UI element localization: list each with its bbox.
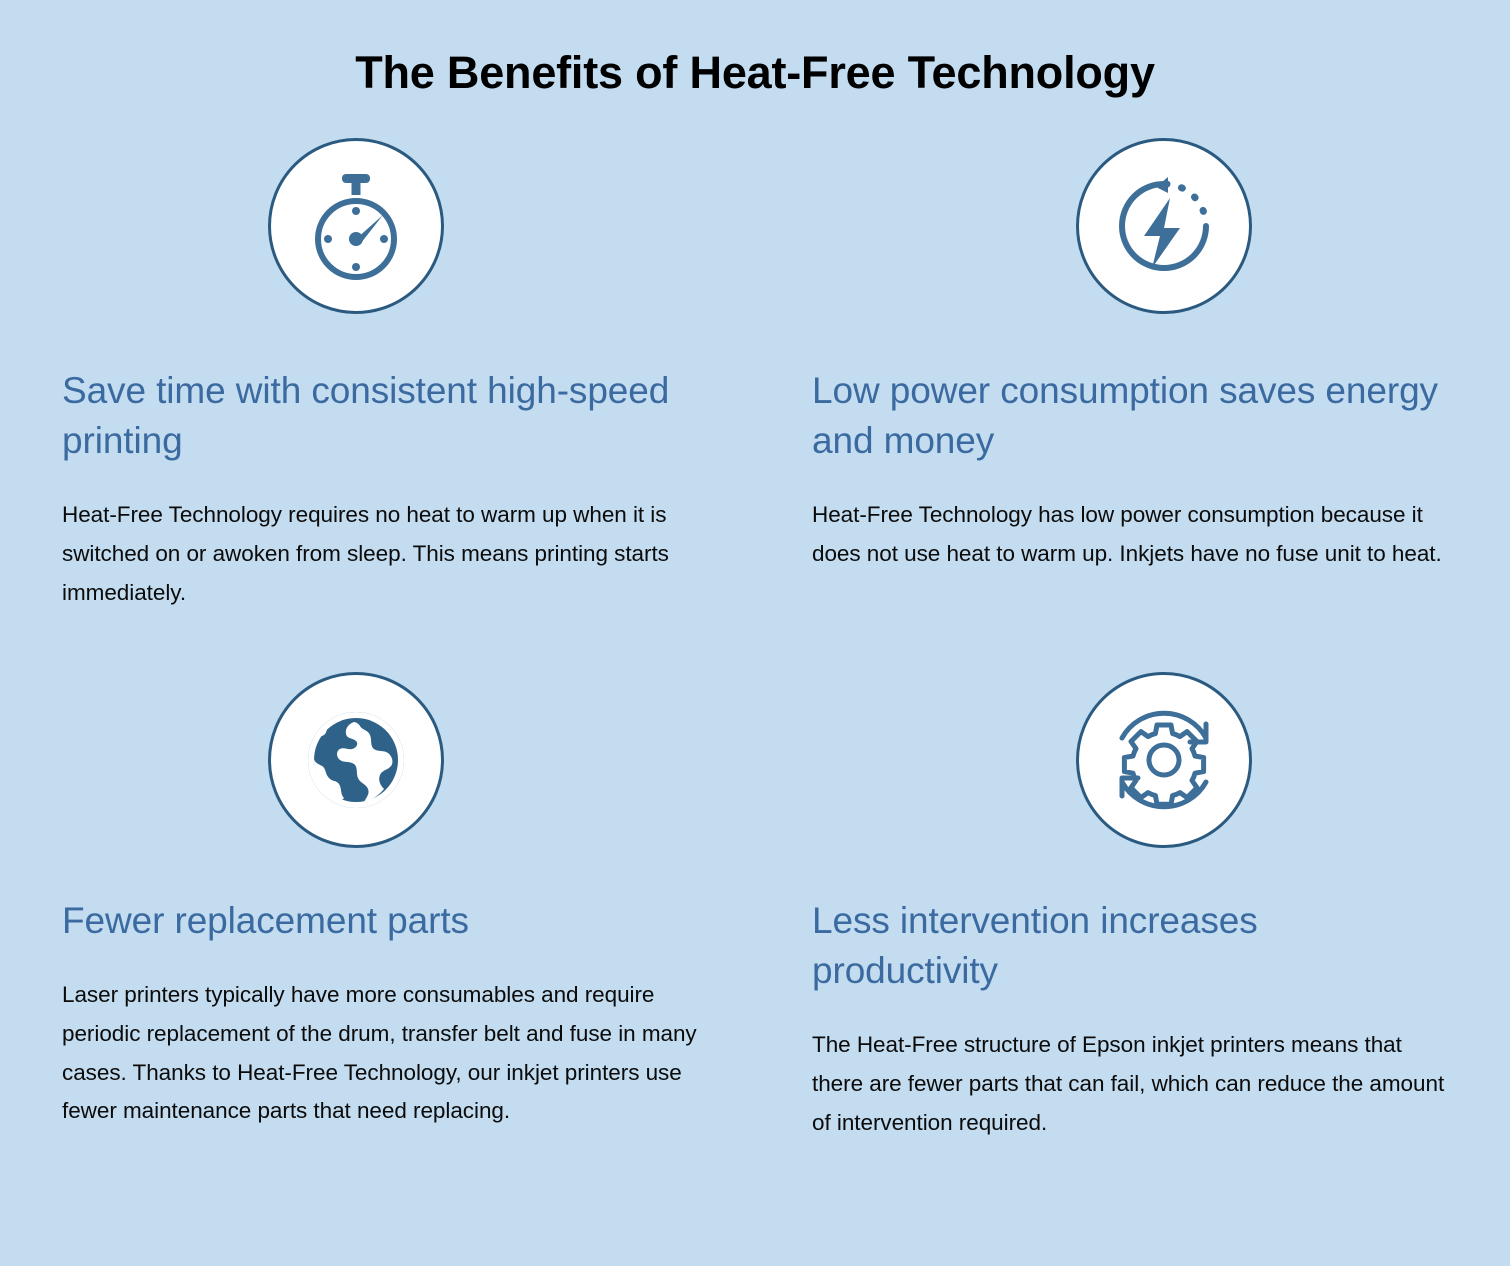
stopwatch-icon-badge (268, 138, 444, 314)
energy-bolt-cycle-icon (1108, 170, 1220, 282)
page-title: The Benefits of Heat-Free Technology (0, 0, 1510, 98)
benefit-heading: Fewer replacement parts (62, 896, 702, 946)
benefit-body: Heat-Free Technology has low power consu… (812, 496, 1452, 573)
gear-refresh-icon-badge (1076, 672, 1252, 848)
benefit-card-less-intervention: Less intervention increases productivity… (812, 672, 1510, 1142)
benefit-card-fewer-parts: Fewer replacement parts Laser printers t… (62, 672, 812, 1142)
benefit-heading: Less intervention increases productivity (812, 896, 1452, 996)
grid-row-spacer (62, 612, 812, 672)
benefit-body: The Heat-Free structure of Epson inkjet … (812, 1026, 1452, 1142)
gear-refresh-icon (1106, 702, 1222, 818)
benefit-body: Laser printers typically have more consu… (62, 976, 702, 1131)
benefit-card-low-power: Low power consumption saves energy and m… (812, 138, 1510, 612)
benefits-grid: Save time with consistent high-speed pri… (0, 138, 1510, 1142)
benefits-page: The Benefits of Heat-Free Technology (0, 0, 1510, 1266)
benefit-card-save-time: Save time with consistent high-speed pri… (62, 138, 812, 612)
benefit-body: Heat-Free Technology requires no heat to… (62, 496, 702, 612)
stopwatch-icon (304, 170, 408, 282)
grid-row-spacer (812, 612, 1510, 672)
benefit-heading: Save time with consistent high-speed pri… (62, 366, 702, 466)
benefit-heading: Low power consumption saves energy and m… (812, 366, 1452, 466)
globe-icon-badge (268, 672, 444, 848)
globe-icon (298, 702, 414, 818)
energy-bolt-cycle-icon-badge (1076, 138, 1252, 314)
